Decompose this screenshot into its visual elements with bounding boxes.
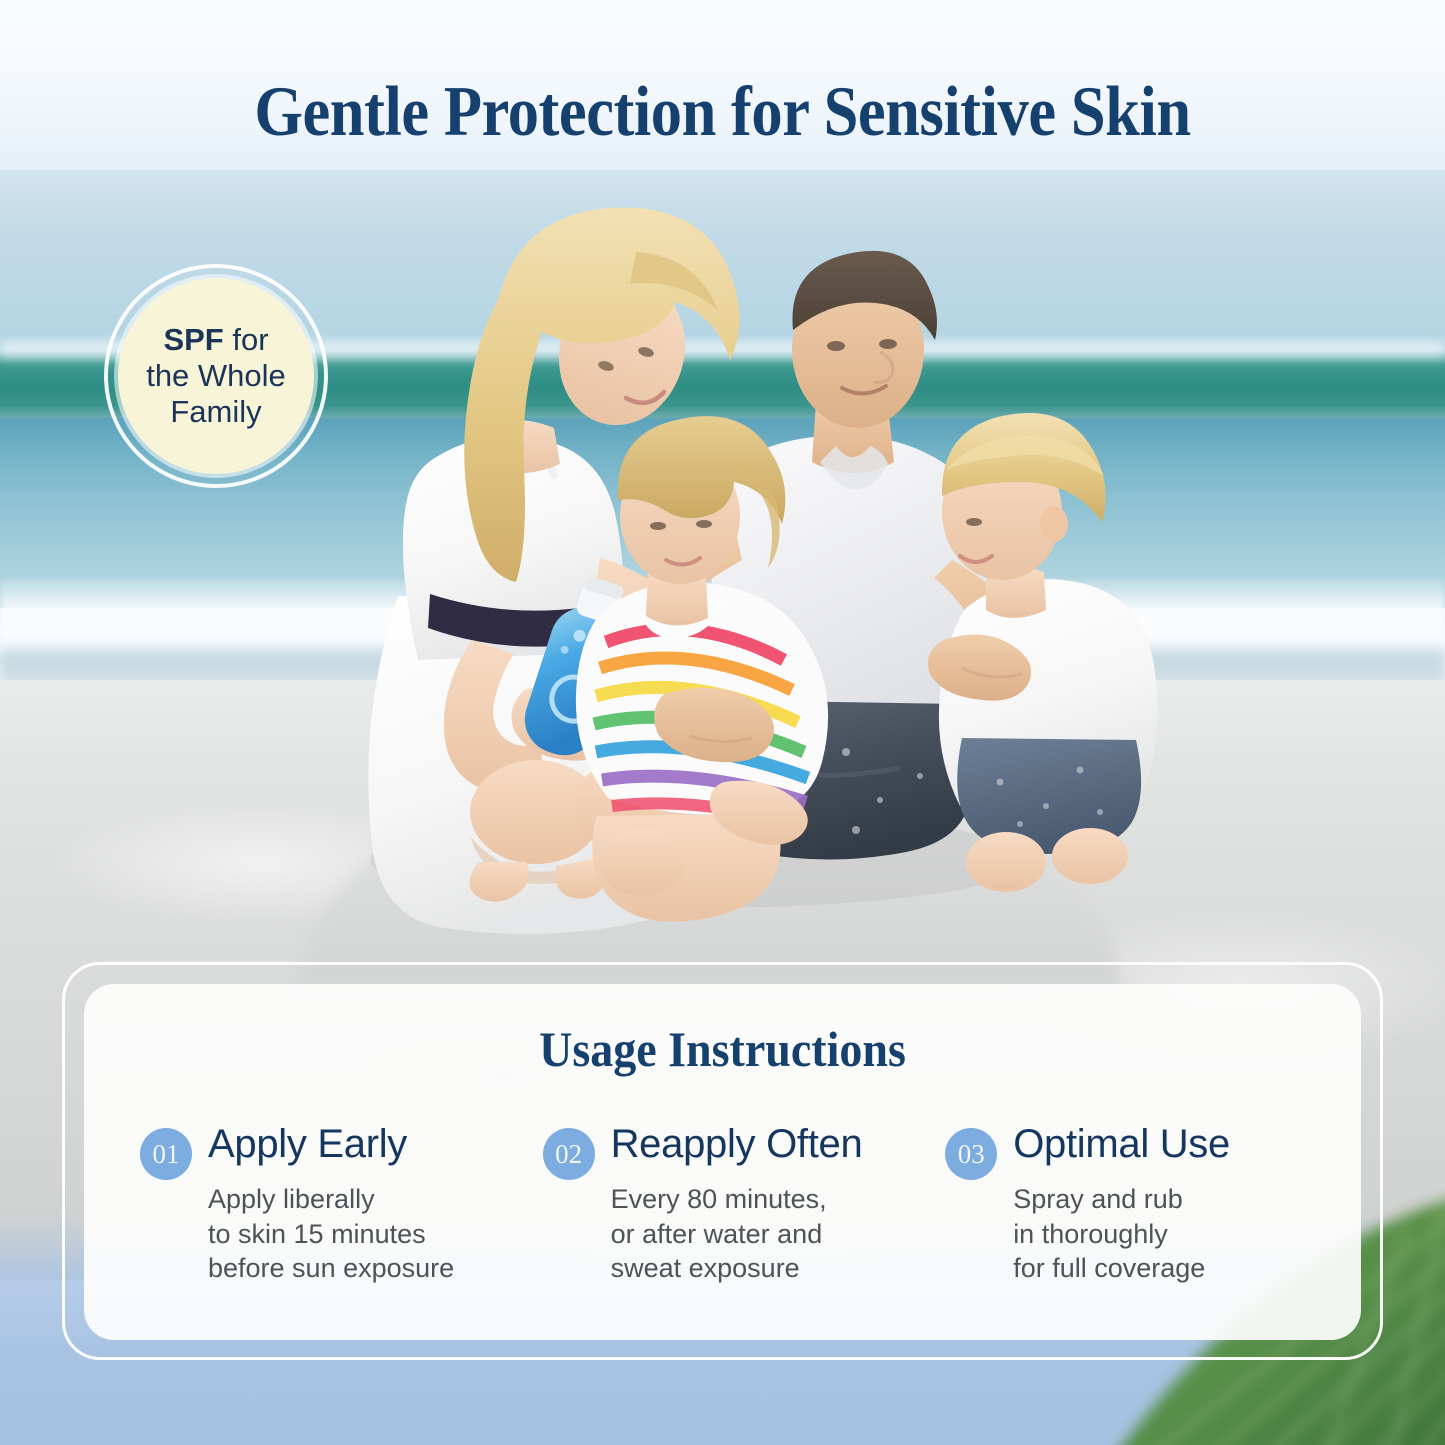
step-1-line-3: before sun exposure [208,1251,543,1286]
usage-step-2: 02 Reapply Often Every 80 minutes, or af… [543,1124,946,1286]
page-title: Gentle Protection for Sensitive Skin [87,72,1359,153]
usage-instructions-panel: Usage Instructions 01 Apply Early Apply … [84,984,1361,1340]
step-3-line-1: Spray and rub [1013,1182,1325,1217]
step-description-1: Apply liberally to skin 15 minutes befor… [208,1182,543,1286]
spf-badge: SPF for the Whole Family [104,264,328,488]
usage-step-3: 03 Optimal Use Spray and rub in thorough… [945,1124,1325,1286]
step-description-2: Every 80 minutes, or after water and swe… [611,1182,946,1286]
usage-steps-row: 01 Apply Early Apply liberally to skin 1… [140,1124,1325,1286]
spf-badge-line3: Family [170,394,261,429]
step-2-line-1: Every 80 minutes, [611,1182,946,1217]
step-2-line-2: or after water and [611,1217,946,1252]
step-3-line-3: for full coverage [1013,1251,1325,1286]
step-1-line-2: to skin 15 minutes [208,1217,543,1252]
step-description-3: Spray and rub in thoroughly for full cov… [1013,1182,1325,1286]
spf-badge-inner: SPF for the Whole Family [118,278,314,474]
step-heading-1: Apply Early [208,1124,543,1164]
spf-badge-text: SPF for the Whole Family [136,322,296,430]
step-body-1: Apply Early Apply liberally to skin 15 m… [208,1124,543,1286]
step-3-line-2: in thoroughly [1013,1217,1325,1252]
step-heading-3: Optimal Use [1013,1124,1325,1164]
spf-badge-line1-rest: for [224,322,269,357]
step-body-2: Reapply Often Every 80 minutes, or after… [611,1124,946,1286]
step-1-line-1: Apply liberally [208,1182,543,1217]
spf-badge-line2: the Whole [146,358,286,393]
usage-panel-title: Usage Instructions [135,1020,1310,1078]
poster-canvas: Gentle Protection for Sensitive Skin SPF… [0,0,1445,1445]
step-2-line-3: sweat exposure [611,1251,946,1286]
step-heading-2: Reapply Often [611,1124,946,1164]
step-number-badge-3: 03 [945,1128,997,1180]
usage-step-1: 01 Apply Early Apply liberally to skin 1… [140,1124,543,1286]
step-number-badge-2: 02 [543,1128,595,1180]
spf-badge-bold: SPF [163,322,223,357]
step-body-3: Optimal Use Spray and rub in thoroughly … [1013,1124,1325,1286]
step-number-badge-1: 01 [140,1128,192,1180]
